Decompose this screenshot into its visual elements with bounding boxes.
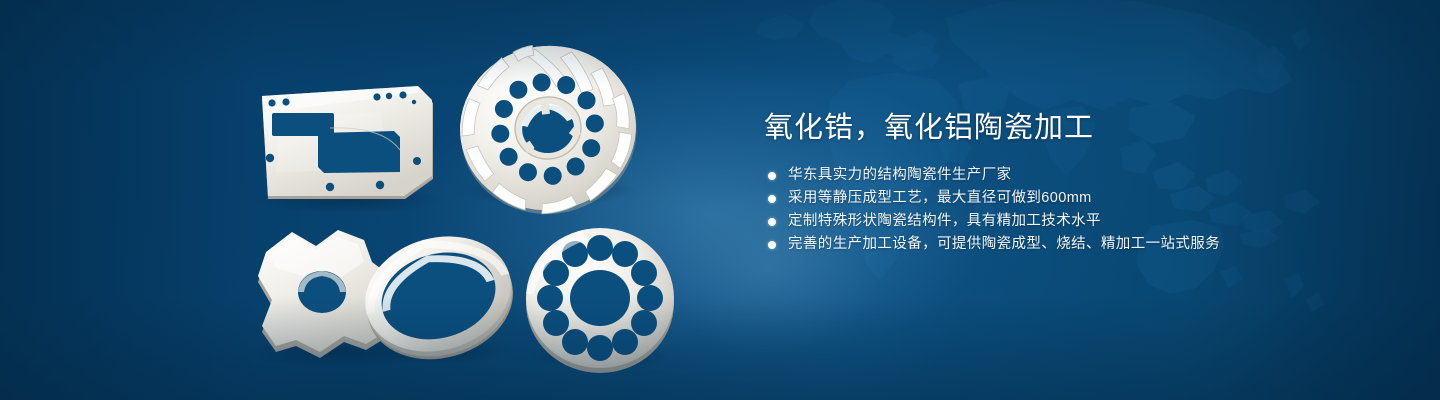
list-item-label: 华东具实力的结构陶瓷件生产厂家 xyxy=(788,167,1012,183)
list-item-label: 采用等静压成型工艺，最大直径可做到600mm xyxy=(788,190,1092,206)
list-item-label: 完善的生产加工设备，可提供陶瓷成型、烧结、精加工一站式服务 xyxy=(788,236,1220,252)
hero-banner: 氧化锆，氧化铝陶瓷加工 华东具实力的结构陶瓷件生产厂家 采用等静压成型工艺，最大… xyxy=(0,0,1440,400)
feature-list: 华东具实力的结构陶瓷件生产厂家 采用等静压成型工艺，最大直径可做到600mm 定… xyxy=(764,164,1364,256)
list-item: 华东具实力的结构陶瓷件生产厂家 xyxy=(764,164,1364,187)
list-item: 完善的生产加工设备，可提供陶瓷成型、烧结、精加工一站式服务 xyxy=(764,233,1364,256)
bullet-dot-icon xyxy=(768,241,776,249)
page-title: 氧化锆，氧化铝陶瓷加工 xyxy=(764,108,1364,148)
list-item-label: 定制特殊形状陶瓷结构件，具有精加工技术水平 xyxy=(788,213,1101,229)
list-item: 采用等静压成型工艺，最大直径可做到600mm xyxy=(764,187,1364,210)
banner-copy-panel: 氧化锆，氧化铝陶瓷加工 华东具实力的结构陶瓷件生产厂家 采用等静压成型工艺，最大… xyxy=(764,108,1364,256)
bullet-dot-icon xyxy=(768,218,776,226)
bullet-dot-icon xyxy=(768,172,776,180)
bullet-dot-icon xyxy=(768,195,776,203)
list-item: 定制特殊形状陶瓷结构件，具有精加工技术水平 xyxy=(764,210,1364,233)
